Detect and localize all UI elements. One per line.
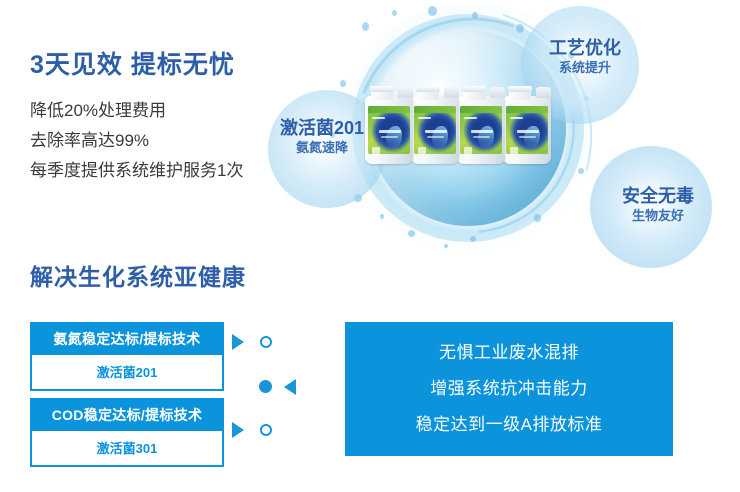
bottle-label — [460, 106, 502, 154]
label-tick — [418, 117, 431, 119]
bottle-cap — [416, 86, 440, 92]
splash-droplet — [340, 80, 346, 87]
splash-droplet — [470, 236, 476, 242]
badge-title: 工艺优化 — [527, 38, 643, 59]
label-tick — [464, 117, 477, 119]
bottle-handle — [398, 87, 413, 98]
splash-droplet — [392, 10, 397, 16]
circle-outline-icon — [260, 336, 272, 348]
label-tick — [473, 136, 490, 138]
triangle-left-icon — [284, 379, 296, 395]
flow-connectors — [228, 322, 340, 456]
splash-droplet — [444, 244, 448, 248]
tech-card-product: 激活菌201 — [32, 355, 222, 389]
label-tick — [379, 130, 401, 133]
splash-droplet — [362, 22, 369, 31]
label-tick — [510, 117, 523, 119]
label-top-bar — [368, 106, 410, 113]
splash-droplet — [428, 6, 437, 16]
splash-droplet — [516, 24, 524, 33]
bottle-handle — [490, 87, 505, 98]
result-benefits-panel: 无惧工业废水混排 增强系统抗冲击能力 稳定达到一级A排放标准 — [345, 322, 673, 456]
label-tick — [519, 136, 536, 138]
label-tick — [464, 147, 472, 154]
triangle-right-icon — [232, 334, 244, 350]
product-bottle — [503, 86, 553, 164]
result-line: 稳定达到一级A排放标准 — [416, 407, 603, 443]
product-bottle — [411, 86, 461, 164]
result-line: 增强系统抗冲击能力 — [430, 371, 588, 407]
label-tick — [381, 136, 398, 138]
triangle-right-icon — [232, 422, 244, 438]
product-bottle-row — [365, 86, 555, 166]
label-top-bar — [414, 106, 456, 113]
label-tick — [427, 136, 444, 138]
tech-card-ammonia[interactable]: 氨氮稳定达标/提标技术 激活菌201 — [30, 322, 224, 391]
bottle-cap — [508, 86, 532, 92]
result-line: 无惧工业废水混排 — [439, 335, 579, 371]
bottle-label — [368, 106, 410, 154]
circle-filled-icon — [259, 380, 272, 393]
splash-droplet — [472, 12, 478, 19]
hero-headline: 3天见效 提标无忧 — [30, 45, 235, 81]
label-tick — [425, 130, 447, 133]
product-feature-banner: 3天见效 提标无忧 降低20%处理费用 去除率高达99% 每季度提供系统维护服务… — [0, 0, 740, 492]
badge-text: 工艺优化 系统提升 — [527, 38, 643, 76]
label-tick — [510, 147, 518, 154]
bottle-cap — [462, 86, 486, 92]
bottle-cap — [370, 86, 394, 92]
badge-safe-nontoxic: 安全无毒 生物友好 — [600, 186, 716, 224]
label-tick — [418, 147, 426, 154]
label-tick — [372, 147, 380, 154]
solution-section-heading: 解决生化系统亚健康 — [30, 258, 246, 292]
badge-text: 安全无毒 生物友好 — [600, 186, 716, 224]
tech-card-header: 氨氮稳定达标/提标技术 — [32, 324, 222, 355]
bottle-label — [506, 106, 548, 154]
badge-subtitle: 生物友好 — [600, 209, 716, 224]
badge-process-optimization: 工艺优化 系统提升 — [527, 38, 643, 76]
splash-droplet — [534, 214, 541, 222]
badge-subtitle: 系统提升 — [527, 61, 643, 76]
tech-card-cod[interactable]: COD稳定达标/提标技术 激活菌301 — [30, 398, 224, 467]
bottle-handle — [536, 87, 551, 98]
splash-droplet — [408, 230, 415, 237]
splash-droplet — [578, 168, 584, 174]
label-tick — [517, 130, 539, 133]
label-tick — [372, 117, 385, 119]
circle-outline-icon — [260, 424, 272, 436]
label-tick — [471, 130, 493, 133]
tech-card-product: 激活菌301 — [32, 431, 222, 465]
bottle-handle — [444, 87, 459, 98]
label-top-bar — [460, 106, 502, 113]
label-top-bar — [506, 106, 548, 113]
splash-droplet — [380, 214, 384, 219]
tech-card-header: COD稳定达标/提标技术 — [32, 400, 222, 431]
bottle-label — [414, 106, 456, 154]
product-bottle — [365, 86, 415, 164]
badge-title: 安全无毒 — [600, 186, 716, 207]
product-bottle — [457, 86, 507, 164]
hero-section: 3天见效 提标无忧 降低20%处理费用 去除率高达99% 每季度提供系统维护服务… — [0, 0, 740, 250]
